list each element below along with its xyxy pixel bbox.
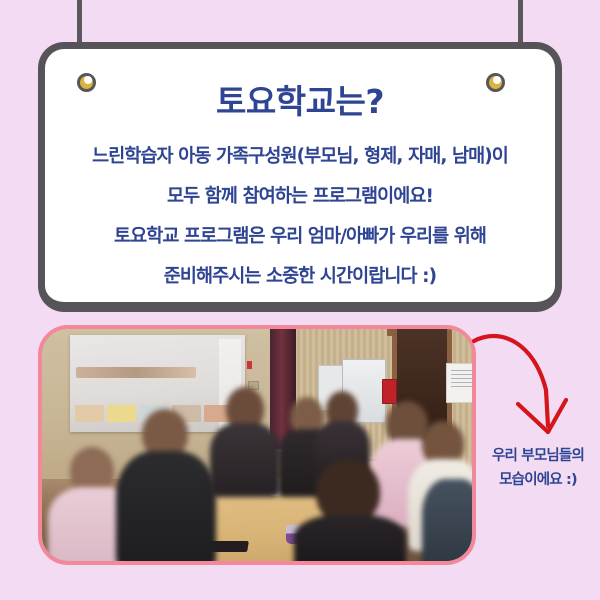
photo-frame <box>38 325 476 565</box>
photo-caption-line-2: 모습이에요 :) <box>480 468 596 492</box>
sign-body-line-2: 모두 함께 참여하는 프로그램이에요! <box>53 177 547 217</box>
sign-title: 토요학교는? <box>45 75 555 123</box>
photo-person <box>294 459 406 561</box>
sign-body: 느린학습자 아동 가족구성원(부모님, 형제, 자매, 남매)이 모두 함께 참… <box>53 137 547 297</box>
photo-person <box>116 409 216 561</box>
pointer-arrow-icon <box>470 328 582 438</box>
photo-caption: 우리 부모님들의 모습이에요 :) <box>480 444 596 492</box>
photo-person <box>422 479 472 561</box>
group-meeting-photo <box>42 329 472 561</box>
sign-body-line-4: 준비해주시는 소중한 시간이랍니다 :) <box>53 257 547 297</box>
info-sign-card: 토요학교는? 느린학습자 아동 가족구성원(부모님, 형제, 자매, 남매)이 … <box>38 42 562 312</box>
photo-wall-poster <box>446 363 472 403</box>
photo-caption-line-1: 우리 부모님들의 <box>480 444 596 468</box>
poster-canvas: 토요학교는? 느린학습자 아동 가족구성원(부모님, 형제, 자매, 남매)이 … <box>0 0 600 600</box>
screen-slide-band <box>76 367 196 378</box>
photo-person <box>210 387 280 497</box>
sign-body-line-3: 토요학교 프로그램은 우리 엄마/아빠가 우리를 위해 <box>53 217 547 257</box>
sign-body-line-1: 느린학습자 아동 가족구성원(부모님, 형제, 자매, 남매)이 <box>53 137 547 177</box>
photo-wall-sign <box>247 361 252 369</box>
